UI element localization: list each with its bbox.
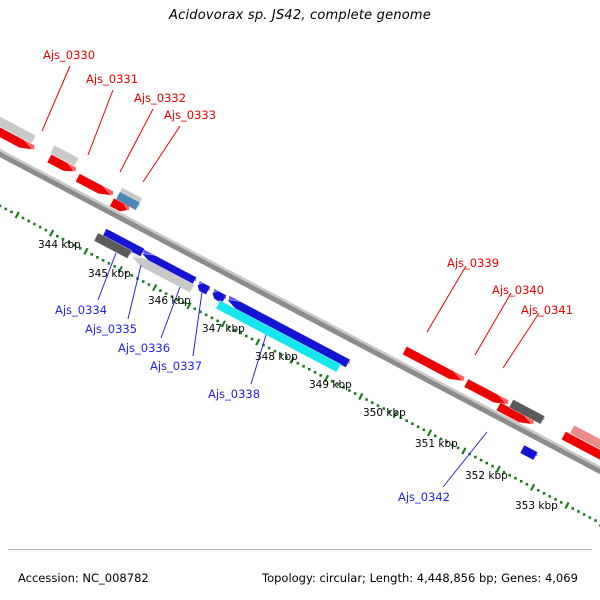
gene-label-ajs_0338[interactable]: Ajs_0338: [208, 387, 260, 401]
gene-body[interactable]: [402, 346, 462, 380]
gene-label-ajs_0342[interactable]: Ajs_0342: [398, 490, 450, 504]
ruler-dot: [474, 456, 477, 459]
gene-feature[interactable]: [402, 346, 464, 381]
ruler-dot: [480, 459, 483, 462]
ruler-dot: [39, 226, 42, 229]
footer: Accession: NC_008782 Topology: circular;…: [0, 571, 600, 587]
ruler-dot: [560, 501, 563, 504]
ruler-tick-label: 348 kbp: [255, 351, 298, 363]
ruler-dotted-line: [0, 176, 600, 534]
ruler-dot: [216, 320, 219, 323]
gene-label-ajs_0339[interactable]: Ajs_0339: [447, 256, 499, 270]
ruler-tick-label: 351 kbp: [415, 438, 458, 450]
ruler-dot: [33, 223, 36, 226]
gene-feature[interactable]: [520, 445, 538, 460]
leader-line: [88, 90, 113, 155]
ruler-major-tick: [428, 430, 431, 436]
ruler-dot: [508, 474, 511, 477]
ruler-dot: [56, 235, 59, 238]
genome-map-canvas[interactable]: [0, 0, 600, 600]
ruler-major-tick: [565, 502, 568, 508]
ruler-dot: [148, 283, 151, 286]
ruler-dot: [193, 307, 196, 310]
ruler-dot: [245, 335, 248, 338]
ruler-tick-label: 349 kbp: [309, 379, 352, 391]
ruler-tick-label: 346 kbp: [148, 295, 191, 307]
ruler-dot: [486, 462, 489, 465]
ruler-dot: [405, 419, 408, 422]
ruler-dot: [371, 401, 374, 404]
leader-line: [475, 293, 511, 355]
gene-feature[interactable]: [197, 281, 210, 295]
ruler-dot: [102, 259, 105, 262]
ruler-major-tick: [153, 285, 156, 291]
ruler-dot: [308, 368, 311, 371]
ruler-dot: [4, 208, 7, 211]
footer-divider: [8, 549, 592, 550]
ruler-tick-label: 347 kbp: [202, 323, 245, 335]
gene-label-ajs_0333[interactable]: Ajs_0333: [164, 108, 216, 122]
ruler-dot: [423, 429, 426, 432]
ruler-major-tick: [462, 448, 465, 454]
ruler-dot: [571, 507, 574, 510]
ruler-tick-label: 350 kbp: [363, 407, 406, 419]
gene-body[interactable]: [197, 283, 210, 295]
ruler-dot: [365, 398, 368, 401]
ruler-dot: [514, 477, 517, 480]
leader-line: [503, 313, 539, 368]
ruler-dot: [434, 435, 437, 438]
ruler-dot: [251, 338, 254, 341]
gene-label-ajs_0337[interactable]: Ajs_0337: [150, 359, 202, 373]
ruler-tick-label: 352 kbp: [465, 470, 508, 482]
ruler-dot: [491, 465, 494, 468]
ruler-major-tick: [16, 212, 19, 218]
gene-label-ajs_0335[interactable]: Ajs_0335: [85, 322, 137, 336]
leader-line: [193, 292, 202, 356]
gene-label-ajs_0332[interactable]: Ajs_0332: [134, 91, 186, 105]
gene-label-ajs_0340[interactable]: Ajs_0340: [492, 283, 544, 297]
topology-text: Topology: circular; Length: 4,448,856 bp…: [262, 571, 578, 585]
ruler-major-tick: [531, 484, 534, 490]
ruler-dot: [548, 495, 551, 498]
leader-line: [120, 109, 153, 172]
ruler-major-tick: [256, 339, 259, 345]
gene-label-ajs_0331[interactable]: Ajs_0331: [86, 72, 138, 86]
ruler-dot: [417, 425, 420, 428]
ruler-dot: [526, 483, 529, 486]
ruler-dot: [268, 347, 271, 350]
leader-line: [42, 66, 70, 131]
ruler-dot: [96, 256, 99, 259]
ruler-dot: [90, 253, 93, 256]
genome-map-viewport: Acidovorax sp. JS42, complete genome 344…: [0, 0, 600, 600]
ruler-dot: [583, 513, 586, 516]
leader-line: [427, 266, 466, 332]
gene-feature[interactable]: [212, 289, 226, 303]
gene-label-ajs_0330[interactable]: Ajs_0330: [43, 48, 95, 62]
ruler-dot: [302, 365, 305, 368]
ruler-tick-label: 345 kbp: [88, 268, 131, 280]
leader-line: [143, 126, 180, 182]
ruler-dot: [314, 371, 317, 374]
ruler-dot: [22, 217, 25, 220]
ruler-dot: [594, 519, 597, 522]
ruler-tick-label: 353 kbp: [515, 500, 558, 512]
ruler-dot: [27, 220, 30, 223]
ruler-major-tick: [84, 248, 87, 254]
accession-text: Accession: NC_008782: [18, 571, 149, 585]
ruler-dot: [354, 392, 357, 395]
ruler-dot: [159, 289, 162, 292]
ruler-tick-label: 344 kbp: [38, 239, 81, 251]
ruler-dot: [543, 492, 546, 495]
gene-body[interactable]: [212, 291, 226, 303]
ruler-dot: [319, 374, 322, 377]
ruler-dot: [142, 280, 145, 283]
gene-label-ajs_0334[interactable]: Ajs_0334: [55, 303, 107, 317]
ruler-dot: [108, 262, 111, 265]
gene-label-ajs_0336[interactable]: Ajs_0336: [118, 341, 170, 355]
ruler-dot: [411, 422, 414, 425]
ruler-dot: [205, 314, 208, 317]
ruler-dot: [520, 480, 523, 483]
gene-label-ajs_0341[interactable]: Ajs_0341: [521, 303, 573, 317]
page-title: Acidovorax sp. JS42, complete genome: [0, 8, 600, 23]
ruler-major-tick: [50, 230, 53, 236]
ruler-dot: [10, 211, 13, 214]
ruler-dot: [537, 489, 540, 492]
gene-body[interactable]: [520, 445, 538, 460]
ruler-dot: [0, 205, 1, 208]
ruler-dot: [577, 510, 580, 513]
ruler-major-tick: [359, 393, 362, 399]
ruler-dot: [211, 317, 214, 320]
gene-features-layer[interactable]: [0, 102, 600, 494]
ruler-dot: [45, 229, 48, 232]
ruler-dot: [589, 516, 592, 519]
